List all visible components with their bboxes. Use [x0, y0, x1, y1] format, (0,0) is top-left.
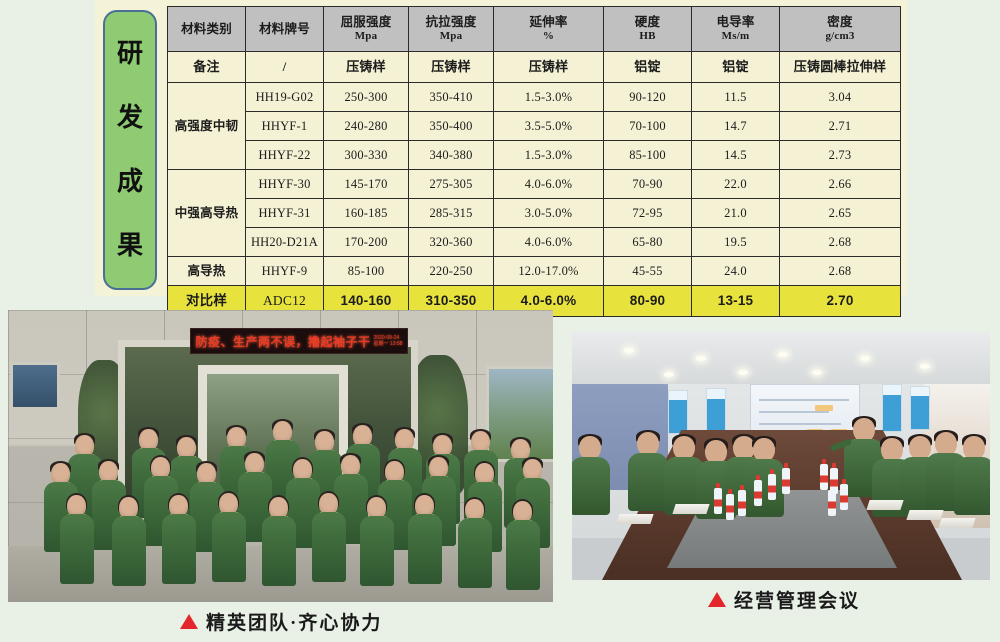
- table-header-row: 材料类别 材料牌号 屈服强度 Mpa 抗拉强度 Mpa 延伸率 %: [168, 7, 901, 52]
- table-row: HHYF-22 300-330 340-380 1.5-3.0% 85-100 …: [168, 141, 901, 170]
- cell-note-yield: 压铸样: [324, 52, 409, 83]
- photo-water-bottle: [830, 468, 838, 494]
- cell-compare-conductivity: 13-15: [692, 286, 780, 317]
- cell-elongation: 4.0-6.0%: [494, 170, 604, 199]
- team-caption-text: 精英团队·齐心协力: [206, 608, 382, 635]
- vertical-label-char-1: 研: [117, 41, 143, 67]
- col-header-tensile-strength: 抗拉强度 Mpa: [409, 7, 494, 52]
- cell-compare-density: 2.70: [780, 286, 901, 317]
- cell-tensile: 340-380: [409, 141, 494, 170]
- cell-tensile: 275-305: [409, 170, 494, 199]
- photo-water-bottle: [738, 490, 746, 516]
- meeting-caption-text: 经营管理会议: [734, 586, 860, 613]
- cell-note-elongation: 压铸样: [494, 52, 604, 83]
- cell-note-hardness: 铝锭: [604, 52, 692, 83]
- led-banner-date-line1: 2020-09-24: [374, 335, 400, 341]
- vertical-label-char-4: 果: [117, 233, 143, 259]
- cell-conductivity: 14.7: [692, 112, 780, 141]
- cell-hardness: 72-95: [604, 199, 692, 228]
- cell-note-conductivity: 铝锭: [692, 52, 780, 83]
- led-banner-date: 2020-09-24 星期一 13:58: [374, 335, 403, 348]
- cell-yield: 160-185: [324, 199, 409, 228]
- cell-tensile: 350-410: [409, 83, 494, 112]
- cell-grade: HHYF-31: [246, 199, 324, 228]
- vertical-label-char-3: 成: [117, 169, 143, 195]
- led-banner-text: 防疫、生产两不误，撸起袖子干: [196, 333, 371, 350]
- photo-ceiling-light: [696, 356, 706, 361]
- cell-yield: 240-280: [324, 112, 409, 141]
- cell-density: 2.68: [780, 257, 901, 286]
- photo-ceiling-light: [812, 370, 822, 375]
- cell-category: 中强高导热: [168, 170, 246, 257]
- cell-density: 2.71: [780, 112, 901, 141]
- cell-conductivity: 24.0: [692, 257, 780, 286]
- cell-hardness: 70-100: [604, 112, 692, 141]
- cell-yield: 85-100: [324, 257, 409, 286]
- triangle-marker-icon: [180, 614, 198, 629]
- cell-tensile: 320-360: [409, 228, 494, 257]
- photo-wall-poster: [706, 388, 726, 436]
- cell-elongation: 4.0-6.0%: [494, 228, 604, 257]
- cell-category: 高导热: [168, 257, 246, 286]
- cell-grade: HH20-D21A: [246, 228, 324, 257]
- cell-yield: 170-200: [324, 228, 409, 257]
- material-spec-table: 材料类别 材料牌号 屈服强度 Mpa 抗拉强度 Mpa 延伸率 %: [167, 6, 901, 317]
- photo-water-bottle: [714, 488, 722, 514]
- cell-grade: HH19-G02: [246, 83, 324, 112]
- cell-yield: 250-300: [324, 83, 409, 112]
- cell-tensile: 350-400: [409, 112, 494, 141]
- photo-ceiling-light: [778, 352, 788, 357]
- cell-note-grade: /: [246, 52, 324, 83]
- photo-notebook: [866, 500, 903, 510]
- triangle-marker-icon: [708, 592, 726, 607]
- vertical-label-char-2: 发: [117, 105, 143, 131]
- col-header-elongation: 延伸率 %: [494, 7, 604, 52]
- table-row-note: 备注 / 压铸样 压铸样 压铸样 铝锭 铝锭 压铸圆棒拉伸样: [168, 52, 901, 83]
- cell-conductivity: 19.5: [692, 228, 780, 257]
- photo-water-bottle: [820, 464, 828, 490]
- photo-water-bottle: [768, 474, 776, 500]
- table-row: 中强高导热 HHYF-30 145-170 275-305 4.0-6.0% 7…: [168, 170, 901, 199]
- cell-density: 2.65: [780, 199, 901, 228]
- photo-water-bottle: [840, 484, 848, 510]
- table-row: 高导热 HHYF-9 85-100 220-250 12.0-17.0% 45-…: [168, 257, 901, 286]
- photo-water-bottle: [726, 494, 734, 520]
- cell-elongation: 3.0-5.0%: [494, 199, 604, 228]
- cell-note-density: 压铸圆棒拉伸样: [780, 52, 901, 83]
- team-photo-caption: 精英团队·齐心协力: [180, 608, 382, 635]
- photo-notebook: [672, 504, 709, 514]
- photo-crowd: [8, 427, 553, 602]
- management-meeting-photo: [572, 332, 990, 580]
- photo-notebook: [906, 510, 943, 520]
- cell-density: 2.68: [780, 228, 901, 257]
- cell-density: 2.73: [780, 141, 901, 170]
- cell-yield: 145-170: [324, 170, 409, 199]
- cell-elongation: 12.0-17.0%: [494, 257, 604, 286]
- cell-conductivity: 11.5: [692, 83, 780, 112]
- cell-hardness: 90-120: [604, 83, 692, 112]
- cell-conductivity: 22.0: [692, 170, 780, 199]
- cell-conductivity: 14.5: [692, 141, 780, 170]
- meeting-photo-caption: 经营管理会议: [708, 586, 860, 613]
- team-group-photo: 防疫、生产两不误，撸起袖子干 2020-09-24 星期一 13:58: [8, 310, 553, 602]
- cell-hardness: 45-55: [604, 257, 692, 286]
- cell-elongation: 1.5-3.0%: [494, 83, 604, 112]
- photo-notebook: [938, 518, 975, 528]
- photo-ceiling-light: [860, 356, 870, 361]
- cell-grade: HHYF-22: [246, 141, 324, 170]
- cell-category: 高强度中韧: [168, 83, 246, 170]
- photo-wall-poster: [882, 384, 902, 432]
- cell-conductivity: 21.0: [692, 199, 780, 228]
- photo-water-bottle: [754, 480, 762, 506]
- col-header-hardness: 硬度 HB: [604, 7, 692, 52]
- cell-tensile: 220-250: [409, 257, 494, 286]
- table-row: HHYF-1 240-280 350-400 3.5-5.0% 70-100 1…: [168, 112, 901, 141]
- cell-grade: HHYF-30: [246, 170, 324, 199]
- cell-note-category: 备注: [168, 52, 246, 83]
- photo-ceiling-light: [664, 372, 674, 377]
- photo-window: [10, 362, 60, 410]
- photo-ceiling-light: [738, 370, 748, 375]
- cell-grade: HHYF-9: [246, 257, 324, 286]
- cell-hardness: 70-90: [604, 170, 692, 199]
- photo-wall-poster: [668, 390, 688, 434]
- photo-water-bottle: [782, 468, 790, 494]
- cell-grade: HHYF-1: [246, 112, 324, 141]
- cell-hardness: 85-100: [604, 141, 692, 170]
- col-header-conductivity: 电导率 Ms/m: [692, 7, 780, 52]
- led-banner-date-line2: 星期一 13:58: [374, 341, 403, 347]
- cell-density: 3.04: [780, 83, 901, 112]
- col-header-density: 密度 g/cm3: [780, 7, 901, 52]
- cell-compare-hardness: 80-90: [604, 286, 692, 317]
- col-header-yield-strength: 屈服强度 Mpa: [324, 7, 409, 52]
- table-row: 高强度中韧 HH19-G02 250-300 350-410 1.5-3.0% …: [168, 83, 901, 112]
- cell-tensile: 285-315: [409, 199, 494, 228]
- photo-notebook: [616, 514, 653, 524]
- cell-density: 2.66: [780, 170, 901, 199]
- table-row: HH20-D21A 170-200 320-360 4.0-6.0% 65-80…: [168, 228, 901, 257]
- photo-ceiling-light: [920, 364, 930, 369]
- cell-note-tensile: 压铸样: [409, 52, 494, 83]
- photo-meeting-ceiling: [572, 332, 990, 384]
- vertical-section-label: 研 发 成 果: [103, 10, 157, 290]
- photo-ceiling-light: [624, 348, 634, 353]
- photo-led-banner: 防疫、生产两不误，撸起袖子干 2020-09-24 星期一 13:58: [190, 328, 408, 354]
- col-header-category: 材料类别: [168, 7, 246, 52]
- cell-elongation: 1.5-3.0%: [494, 141, 604, 170]
- photo-wall-poster: [910, 386, 930, 430]
- cell-elongation: 3.5-5.0%: [494, 112, 604, 141]
- cell-yield: 300-330: [324, 141, 409, 170]
- col-header-grade: 材料牌号: [246, 7, 324, 52]
- cell-hardness: 65-80: [604, 228, 692, 257]
- research-achievements-panel: 研 发 成 果 材料类别 材料牌号 屈服强度 Mpa: [95, 0, 907, 296]
- table-row: HHYF-31 160-185 285-315 3.0-5.0% 72-95 2…: [168, 199, 901, 228]
